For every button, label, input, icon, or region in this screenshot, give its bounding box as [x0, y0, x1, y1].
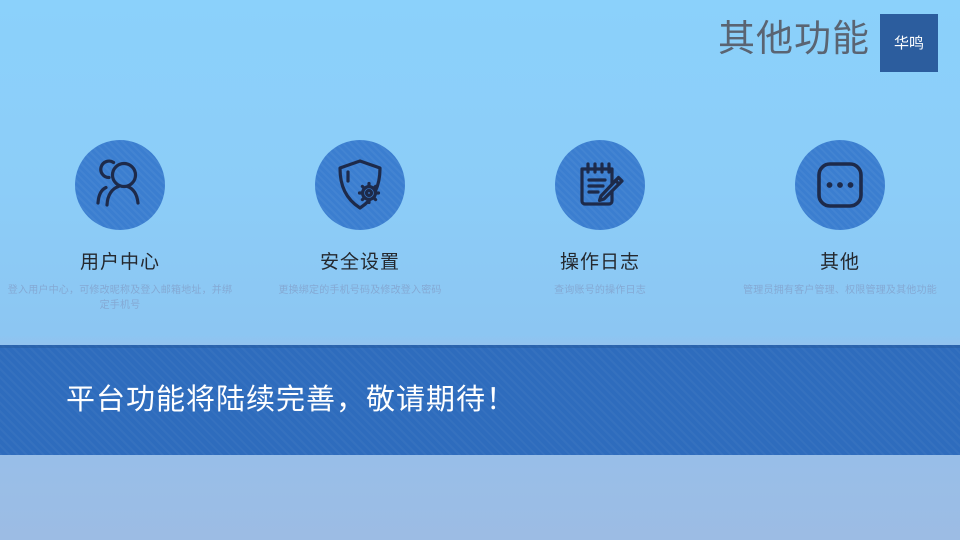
users-icon	[75, 140, 165, 230]
feature-label: 安全设置	[320, 251, 400, 275]
shield-gear-icon	[315, 140, 405, 230]
announcement-text: 平台功能将陆续完善，敬请期待！	[66, 382, 516, 418]
feature-item-security-settings[interactable]: 安全设置 更换绑定的手机号码及修改登入密码	[240, 140, 480, 313]
slide-other-features: 其他功能 华鸣 用户中心 登入用户中心，可修改昵称及登入邮箱地址，并绑定手机号	[0, 0, 960, 540]
feature-label: 其他	[820, 251, 860, 275]
announcement-banner: 平台功能将陆续完善，敬请期待！	[0, 345, 960, 455]
brand-logo-text: 华鸣	[894, 35, 924, 52]
feature-label: 用户中心	[80, 251, 160, 275]
feature-item-operation-log[interactable]: 操作日志 查询账号的操作日志	[480, 140, 720, 313]
notepad-pencil-icon	[555, 140, 645, 230]
banner-top-divider	[0, 345, 960, 348]
feature-description: 更换绑定的手机号码及修改登入密码	[244, 283, 476, 298]
brand-logo-badge: 华鸣	[880, 14, 938, 72]
feature-description: 查询账号的操作日志	[484, 283, 716, 298]
feature-item-user-center[interactable]: 用户中心 登入用户中心，可修改昵称及登入邮箱地址，并绑定手机号	[0, 140, 240, 313]
feature-description: 登入用户中心，可修改昵称及登入邮箱地址，并绑定手机号	[4, 283, 236, 313]
ellipsis-square-icon	[795, 140, 885, 230]
feature-description: 管理员拥有客户管理、权限管理及其他功能	[724, 283, 956, 298]
slide-header: 其他功能 华鸣	[0, 0, 960, 85]
feature-list: 用户中心 登入用户中心，可修改昵称及登入邮箱地址，并绑定手机号 安全设置 更换绑…	[0, 140, 960, 313]
feature-item-other[interactable]: 其他 管理员拥有客户管理、权限管理及其他功能	[720, 140, 960, 313]
feature-label: 操作日志	[560, 251, 640, 275]
page-title: 其他功能	[718, 17, 870, 61]
